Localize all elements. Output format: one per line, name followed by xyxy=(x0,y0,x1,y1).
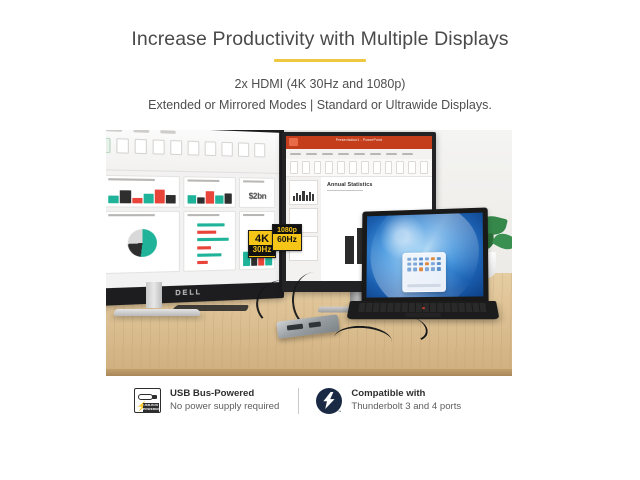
trackpoint-nub[interactable] xyxy=(421,307,424,309)
ribbon-button[interactable] xyxy=(385,161,393,174)
start-menu-app-tile[interactable] xyxy=(407,262,411,266)
powerpoint-tab[interactable] xyxy=(386,153,397,156)
powerpoint-ribbon xyxy=(286,159,432,176)
ribbon-button[interactable] xyxy=(302,161,310,174)
start-menu-app-tile[interactable] xyxy=(413,267,417,271)
title-underline-accent xyxy=(274,59,366,62)
start-menu-app-tile[interactable] xyxy=(425,257,429,261)
product-photo: 7 xyxy=(106,130,512,376)
ribbon-button[interactable] xyxy=(290,161,298,174)
slide-title: Annual Statistics xyxy=(327,182,426,188)
feature-text-block: Compatible with Thunderbolt 3 and 4 port… xyxy=(351,388,461,413)
start-menu-app-tile[interactable] xyxy=(419,267,423,271)
feature-subtitle: Thunderbolt 3 and 4 ports xyxy=(351,401,461,413)
ribbon-tab[interactable] xyxy=(160,131,175,135)
windows-start-menu[interactable] xyxy=(402,252,446,292)
laptop-screen xyxy=(366,213,483,298)
left-monitor-base xyxy=(113,309,201,316)
dashboard-card-pie xyxy=(106,210,180,273)
usb-connector-shape xyxy=(138,394,153,401)
subtitle-line-2: Extended or Mirrored Modes | Standard or… xyxy=(0,96,640,114)
ribbon-icon[interactable] xyxy=(254,143,265,158)
dashboard-card-kpi: $2bn xyxy=(239,177,275,208)
feature-thunderbolt: ™ Compatible with Thunderbolt 3 and 4 po… xyxy=(316,388,461,414)
usb-bus-powered-icon: ⚡ USB-BUS POWERED xyxy=(134,388,161,413)
ribbon-button[interactable] xyxy=(314,161,322,174)
left-monitor-screen: 7 xyxy=(106,130,279,289)
start-menu-app-tile[interactable] xyxy=(413,257,417,261)
ribbon-button[interactable] xyxy=(361,161,369,174)
slide-thumbnail[interactable] xyxy=(289,180,318,205)
badge-1080p-top-text: 1080p xyxy=(273,225,301,234)
badge-1080p-60hz: 1080p 60Hz xyxy=(272,224,302,251)
start-menu-app-tile[interactable] xyxy=(437,267,441,271)
horizontal-bar-chart xyxy=(197,222,231,266)
ribbon-icon[interactable] xyxy=(106,138,111,154)
dashboard-card xyxy=(106,174,180,207)
feature-bar: ⚡ USB-BUS POWERED USB Bus-Powered No pow… xyxy=(106,376,512,425)
badge-1080p-bottom-text: 60Hz xyxy=(273,234,301,246)
feature-text-block: USB Bus-Powered No power supply required xyxy=(170,388,279,413)
ribbon-icon[interactable] xyxy=(135,139,147,154)
start-menu-app-tile[interactable] xyxy=(431,267,435,271)
start-menu-app-tile[interactable] xyxy=(425,262,429,266)
slide-subtitle-placeholder xyxy=(327,190,363,192)
ribbon-button[interactable] xyxy=(325,161,333,174)
ribbon-icon[interactable] xyxy=(238,143,249,158)
card-title-placeholder xyxy=(243,214,264,216)
card-title-placeholder xyxy=(188,214,220,216)
ribbon-button[interactable] xyxy=(349,161,357,174)
start-menu-app-tile[interactable] xyxy=(425,267,429,271)
hub-port xyxy=(309,321,322,327)
start-menu-app-tile[interactable] xyxy=(437,257,441,261)
trademark-symbol: ™ xyxy=(338,410,341,414)
ribbon-icon[interactable] xyxy=(221,142,232,157)
ribbon-icon[interactable] xyxy=(205,141,217,156)
page-title: Increase Productivity with Multiple Disp… xyxy=(0,26,640,52)
start-menu-app-tile[interactable] xyxy=(431,262,435,266)
feature-divider xyxy=(298,388,299,414)
start-menu-app-grid xyxy=(407,257,441,271)
thunderbolt-icon: ™ xyxy=(316,388,342,414)
dashboard-card xyxy=(183,176,236,208)
start-menu-app-tile[interactable] xyxy=(407,268,411,272)
start-menu-app-tile[interactable] xyxy=(419,257,423,261)
powerpoint-tab-strip xyxy=(286,149,432,159)
feature-title: Compatible with xyxy=(351,388,461,400)
feature-title: USB Bus-Powered xyxy=(170,388,279,400)
dashboard-app: 7 xyxy=(106,130,279,289)
feature-subtitle: No power supply required xyxy=(170,401,279,413)
dashboard-card-hbar xyxy=(183,210,236,271)
start-menu-app-tile[interactable] xyxy=(431,257,435,261)
start-menu-app-tile[interactable] xyxy=(407,257,411,261)
ribbon-icon[interactable] xyxy=(170,140,182,155)
thumbnail-chart xyxy=(293,189,314,201)
start-menu-user-bar[interactable] xyxy=(407,284,441,287)
kpi-value: $2bn xyxy=(240,192,274,201)
usb-bus-powered-label: USB-BUS POWERED xyxy=(143,403,159,412)
laptop xyxy=(350,208,496,338)
card-title-placeholder xyxy=(188,179,220,182)
ribbon-tab[interactable] xyxy=(134,130,150,133)
powerpoint-tab[interactable] xyxy=(402,153,413,156)
left-monitor: 7 xyxy=(106,130,284,307)
ribbon-button[interactable] xyxy=(396,161,404,174)
subtitle-line-1: 2x HDMI (4K 30Hz and 1080p) xyxy=(0,75,640,93)
hub-port xyxy=(287,324,303,331)
dashboard-card-grid: $2bn xyxy=(106,174,276,273)
ribbon-button[interactable] xyxy=(408,161,416,174)
powerpoint-tab[interactable] xyxy=(338,153,349,156)
powerpoint-window-title: Presentation1 - PowerPoint xyxy=(286,138,432,142)
ribbon-icon-row xyxy=(106,138,272,158)
laptop-base xyxy=(346,301,499,319)
usb-tag-line-2: POWERED xyxy=(143,407,159,411)
start-menu-app-tile[interactable] xyxy=(413,262,417,266)
powerpoint-tab[interactable] xyxy=(290,153,301,156)
powerpoint-tab[interactable] xyxy=(354,153,365,156)
laptop-lid xyxy=(362,207,489,304)
usb-connector-tip xyxy=(152,395,157,399)
card-title-placeholder xyxy=(109,214,155,216)
laptop-trackpad[interactable] xyxy=(405,313,440,317)
card-title-placeholder xyxy=(109,178,155,181)
powerpoint-tab[interactable] xyxy=(370,153,381,156)
ribbon-icon[interactable] xyxy=(188,141,200,156)
powerpoint-tab[interactable] xyxy=(322,153,333,156)
header: Increase Productivity with Multiple Disp… xyxy=(0,26,640,114)
product-feature-card: Increase Productivity with Multiple Disp… xyxy=(0,0,640,480)
ribbon-tab[interactable] xyxy=(106,130,122,132)
powerpoint-title-bar: Presentation1 - PowerPoint xyxy=(286,136,432,149)
pie-chart xyxy=(128,229,157,257)
ribbon-tabs xyxy=(106,130,176,134)
card-title-placeholder xyxy=(243,180,264,182)
dashboard-ribbon xyxy=(106,130,279,174)
left-monitor-stand xyxy=(146,282,162,308)
ribbon-button[interactable] xyxy=(420,161,428,174)
ribbon-button[interactable] xyxy=(373,161,381,174)
feature-usb-bus-powered: ⚡ USB-BUS POWERED USB Bus-Powered No pow… xyxy=(134,388,279,413)
ribbon-icon[interactable] xyxy=(153,140,165,155)
powerpoint-tab[interactable] xyxy=(306,153,317,156)
ribbon-button[interactable] xyxy=(337,161,345,174)
desk-front-edge xyxy=(106,369,512,376)
card-bar-chart xyxy=(109,185,176,203)
start-menu-app-tile[interactable] xyxy=(437,262,441,266)
ribbon-icon[interactable] xyxy=(116,138,129,154)
card-bar-chart xyxy=(188,186,232,203)
start-menu-app-tile[interactable] xyxy=(419,262,423,266)
